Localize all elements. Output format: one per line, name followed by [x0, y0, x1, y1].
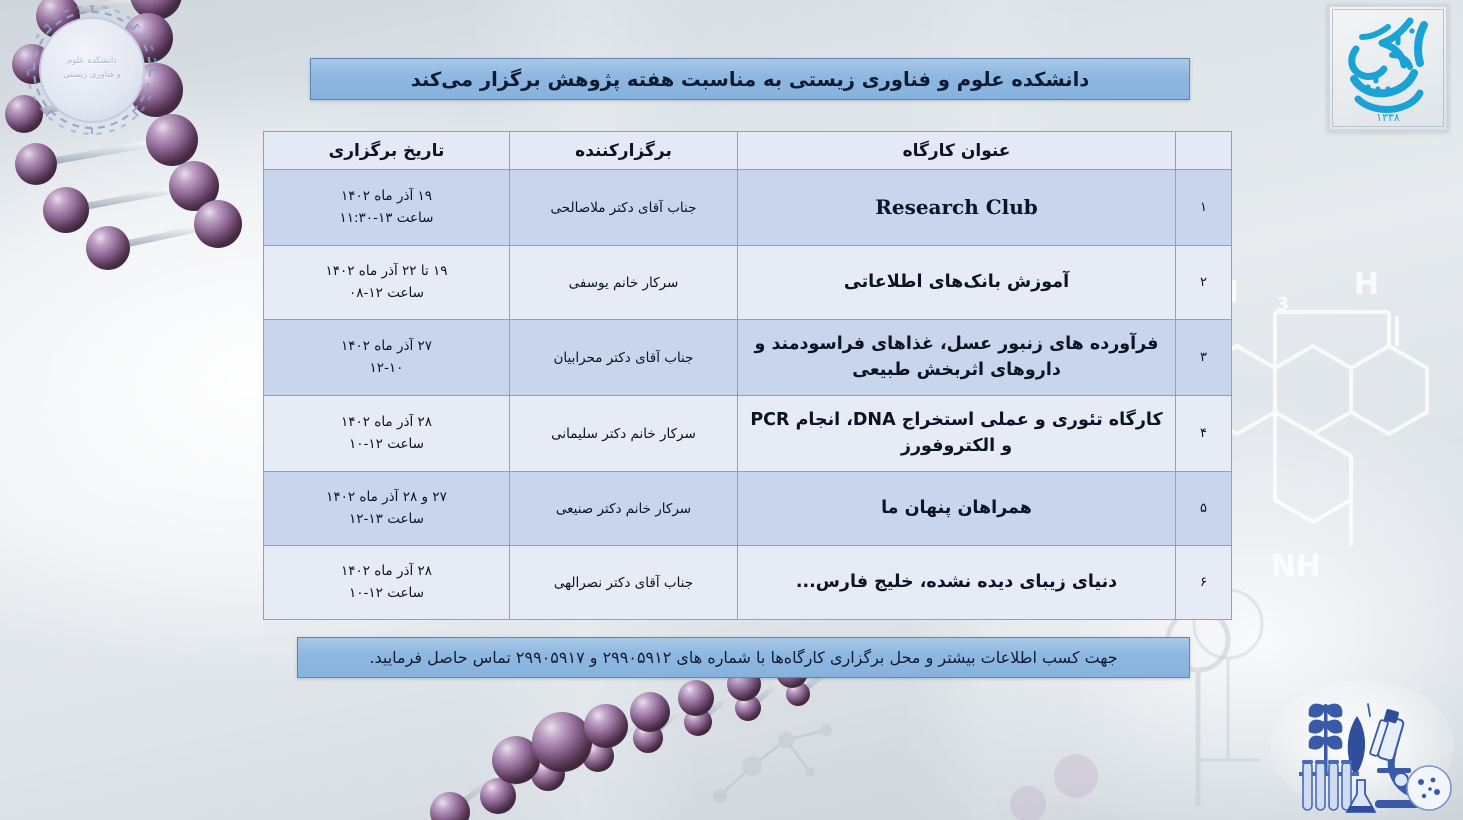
biotech-illustration-graphic: [1269, 676, 1455, 816]
workshop-title: فرآورده های زنبور عسل، غذاهای فراسودمند …: [738, 320, 1176, 396]
poster-canvas: CH 3 H NH: [0, 0, 1463, 820]
workshop-title: همراهان پنهان ما: [738, 472, 1176, 546]
workshop-date: ۲۸ آذر ماه ۱۴۰۲ ساعت ۱۲-۱۰: [264, 396, 510, 472]
chem-label-nh: NH: [1271, 549, 1321, 584]
date-line-1: ۲۸ آذر ماه ۱۴۰۲: [270, 561, 503, 583]
university-logo: ۱۳۳۸: [1327, 4, 1449, 132]
table-row: ۴ کارگاه تئوری و عملی استخراج DNA، انجام…: [264, 396, 1232, 472]
petri-dish-icon: [1407, 766, 1451, 810]
workshop-date: ۱۹ آذر ماه ۱۴۰۲ ساعت ۱۳-۱۱:۳۰: [264, 170, 510, 246]
workshop-organizer: جناب آقای دکتر محرابیان: [510, 320, 738, 396]
schedule-table: عنوان کارگاه برگزارکننده تاریخ برگزاری ۱…: [263, 131, 1232, 620]
chemical-structure-graphic: CH 3 H NH: [1193, 250, 1463, 600]
date-line-2: ۱۲-۱۰: [270, 358, 503, 380]
title-banner-text: دانشکده علوم و فناوری زیستی به مناسبت هف…: [411, 68, 1090, 91]
workshop-title: دنیای زیبای دیده نشده، خلیج فارس...: [738, 546, 1176, 620]
schedule-table-container: عنوان کارگاه برگزارکننده تاریخ برگزاری ۱…: [264, 131, 1232, 620]
table-row: ۳ فرآورده های زنبور عسل، غذاهای فراسودمن…: [264, 320, 1232, 396]
date-line-1: ۱۹ آذر ماه ۱۴۰۲: [270, 186, 503, 208]
column-header-date: تاریخ برگزاری: [264, 132, 510, 170]
title-banner: دانشکده علوم و فناوری زیستی به مناسبت هف…: [310, 58, 1190, 100]
column-header-title: عنوان کارگاه: [738, 132, 1176, 170]
workshop-organizer: سرکار خانم یوسفی: [510, 246, 738, 320]
chem-label-h: H: [1354, 267, 1379, 302]
table-row: ۲ آموزش بانک‌های اطلاعاتی سرکار خانم یوس…: [264, 246, 1232, 320]
workshop-date: ۱۹ تا ۲۲ آذر ماه ۱۴۰۲ ساعت ۱۲-۰۸: [264, 246, 510, 320]
column-header-number: [1176, 132, 1232, 170]
university-logo-year: ۱۳۳۸: [1376, 111, 1400, 124]
contact-banner-text: جهت کسب اطلاعات بیشتر و محل برگزاری کارگ…: [369, 648, 1117, 667]
ghost-molecule-graphic: [690, 700, 870, 820]
row-number: ۲: [1176, 246, 1232, 320]
row-number: ۵: [1176, 472, 1232, 546]
date-line-2: ساعت ۱۳-۱۲: [270, 509, 503, 531]
date-line-1: ۲۷ آذر ماه ۱۴۰۲: [270, 336, 503, 358]
workshop-organizer: جناب آقای دکتر نصرالهی: [510, 546, 738, 620]
faculty-logo-line2: و فناوری زیستی: [8, 68, 176, 82]
workshop-date: ۲۷ آذر ماه ۱۴۰۲ ۱۲-۱۰: [264, 320, 510, 396]
workshop-title: کارگاه تئوری و عملی استخراج DNA، انجام P…: [738, 396, 1176, 472]
table-row: ۶ دنیای زیبای دیده نشده، خلیج فارس... جن…: [264, 546, 1232, 620]
workshop-title: آموزش بانک‌های اطلاعاتی: [738, 246, 1176, 320]
date-line-2: ساعت ۱۲-۱۰: [270, 583, 503, 605]
date-line-2: ساعت ۱۲-۰۸: [270, 283, 503, 305]
faculty-logo-label: دانشکده علوم و فناوری زیستی: [8, 54, 176, 82]
workshop-date: ۲۷ و ۲۸ آذر ماه ۱۴۰۲ ساعت ۱۳-۱۲: [264, 472, 510, 546]
date-line-2: ساعت ۱۲-۱۰: [270, 434, 503, 456]
date-line-1: ۲۷ و ۲۸ آذر ماه ۱۴۰۲: [270, 487, 503, 509]
workshop-organizer: جناب آقای دکتر ملاصالحی: [510, 170, 738, 246]
row-number: ۶: [1176, 546, 1232, 620]
table-header-row: عنوان کارگاه برگزارکننده تاریخ برگزاری: [264, 132, 1232, 170]
workshop-title: Research Club: [738, 170, 1176, 246]
workshop-organizer: سرکار خانم دکتر سلیمانی: [510, 396, 738, 472]
column-header-organizer: برگزارکننده: [510, 132, 738, 170]
date-line-1: ۲۸ آذر ماه ۱۴۰۲: [270, 412, 503, 434]
faculty-logo: دانشکده علوم و فناوری زیستی: [8, 2, 176, 142]
row-number: ۱: [1176, 170, 1232, 246]
workshop-date: ۲۸ آذر ماه ۱۴۰۲ ساعت ۱۲-۱۰: [264, 546, 510, 620]
table-header: عنوان کارگاه برگزارکننده تاریخ برگزاری: [264, 132, 1232, 170]
row-number: ۴: [1176, 396, 1232, 472]
svg-text:3: 3: [1276, 294, 1289, 315]
faculty-logo-line1: دانشکده علوم: [8, 54, 176, 68]
date-line-2: ساعت ۱۳-۱۱:۳۰: [270, 208, 503, 230]
workshop-organizer: سرکار خانم دکتر صنیعی: [510, 472, 738, 546]
table-body: ۱ Research Club جناب آقای دکتر ملاصالحی …: [264, 170, 1232, 620]
table-row: ۵ همراهان پنهان ما سرکار خانم دکتر صنیعی…: [264, 472, 1232, 546]
table-row: ۱ Research Club جناب آقای دکتر ملاصالحی …: [264, 170, 1232, 246]
date-line-1: ۱۹ تا ۲۲ آذر ماه ۱۴۰۲: [270, 261, 503, 283]
university-logo-calligraphy: ۱۳۳۸: [1332, 9, 1444, 127]
row-number: ۳: [1176, 320, 1232, 396]
biotech-illustration: [1269, 676, 1455, 816]
contact-banner: جهت کسب اطلاعات بیشتر و محل برگزاری کارگ…: [297, 637, 1190, 678]
test-tubes-icon: [1299, 760, 1359, 810]
